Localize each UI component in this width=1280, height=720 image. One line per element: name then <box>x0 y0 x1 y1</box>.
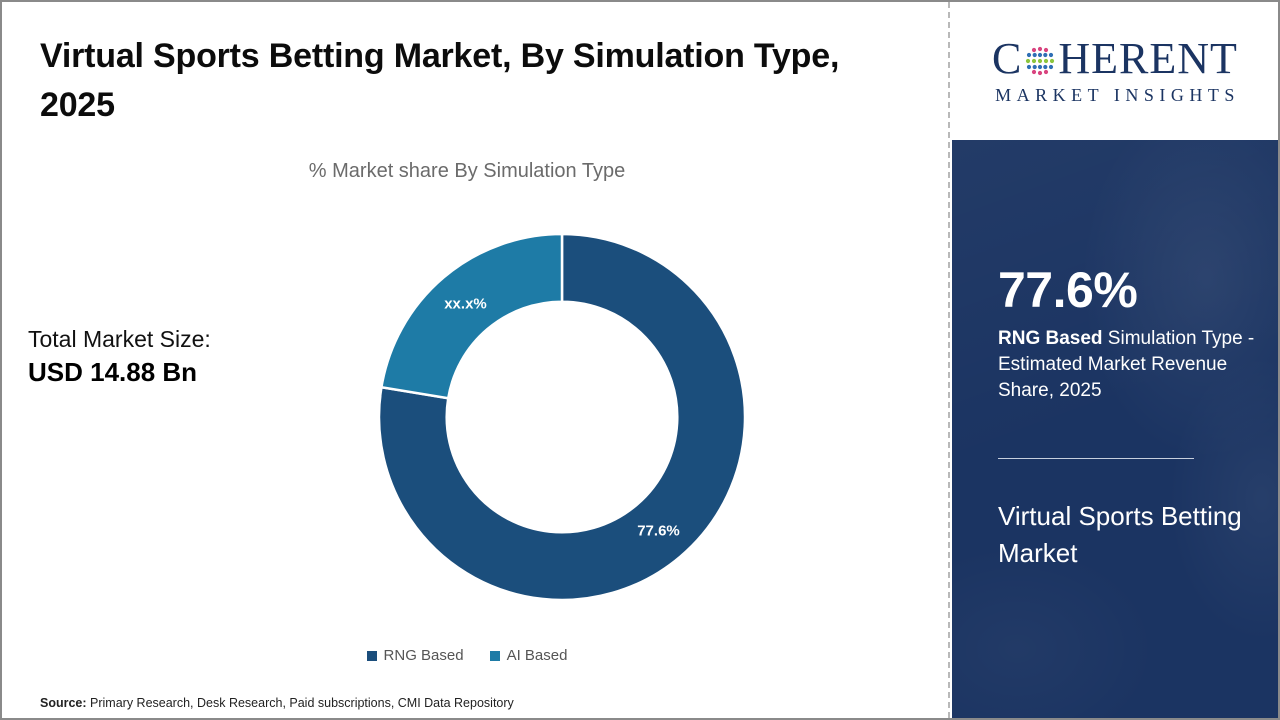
total-market-size: Total Market Size: USD 14.88 Bn <box>28 324 328 390</box>
logo-letter-c: C <box>992 37 1022 81</box>
brand-logo[interactable]: C <box>952 2 1278 140</box>
logo-subtitle: MARKET INSIGHTS <box>990 85 1240 106</box>
chart-subtitle: % Market share By Simulation Type <box>2 160 932 183</box>
infographic-canvas: Virtual Sports Betting Market, By Simula… <box>0 0 1280 720</box>
source-text: Primary Research, Desk Research, Paid su… <box>87 696 514 710</box>
stat-number: 77.6% <box>998 264 1256 317</box>
legend-item-rng-based[interactable]: RNG Based <box>367 647 464 664</box>
logo-wordmark-rest: HERENT <box>1058 37 1238 81</box>
panel-market-name: Virtual Sports Betting Market <box>998 498 1256 572</box>
source-label: Source: <box>40 696 87 710</box>
donut-label-rng-based: 77.6% <box>637 523 680 540</box>
left-content-pane: Virtual Sports Betting Market, By Simula… <box>2 2 950 718</box>
donut-label-ai-based: xx.x% <box>444 295 487 312</box>
legend-label-ai-based: AI Based <box>507 647 568 664</box>
stat-description-strong: RNG Based <box>998 328 1103 349</box>
donut-chart: 77.6% xx.x% <box>377 232 747 602</box>
panel-background-texture <box>952 140 1278 718</box>
globe-icon <box>1023 44 1057 78</box>
total-market-size-label: Total Market Size: <box>28 324 328 355</box>
stat-description: RNG Based Simulation Type - Estimated Ma… <box>998 326 1256 405</box>
right-highlight-panel: C <box>952 2 1278 718</box>
source-note: Source: Primary Research, Desk Research,… <box>40 696 514 710</box>
donut-svg: 77.6% xx.x% <box>377 232 747 602</box>
logo-wordmark-row: C <box>992 36 1238 82</box>
legend-swatch-ai-based <box>490 651 500 661</box>
highlight-stat: 77.6% RNG Based Simulation Type - Estima… <box>998 264 1256 404</box>
page-title: Virtual Sports Betting Market, By Simula… <box>40 32 870 131</box>
legend-swatch-rng-based <box>367 651 377 661</box>
legend-item-ai-based[interactable]: AI Based <box>490 647 568 664</box>
legend-label-rng-based: RNG Based <box>384 647 464 664</box>
vertical-dashed-divider <box>948 2 950 718</box>
total-market-size-value: USD 14.88 Bn <box>28 355 328 390</box>
chart-legend: RNG Based AI Based <box>2 647 932 664</box>
panel-divider-rule <box>998 458 1194 459</box>
donut-slice-ai-based <box>381 234 562 398</box>
